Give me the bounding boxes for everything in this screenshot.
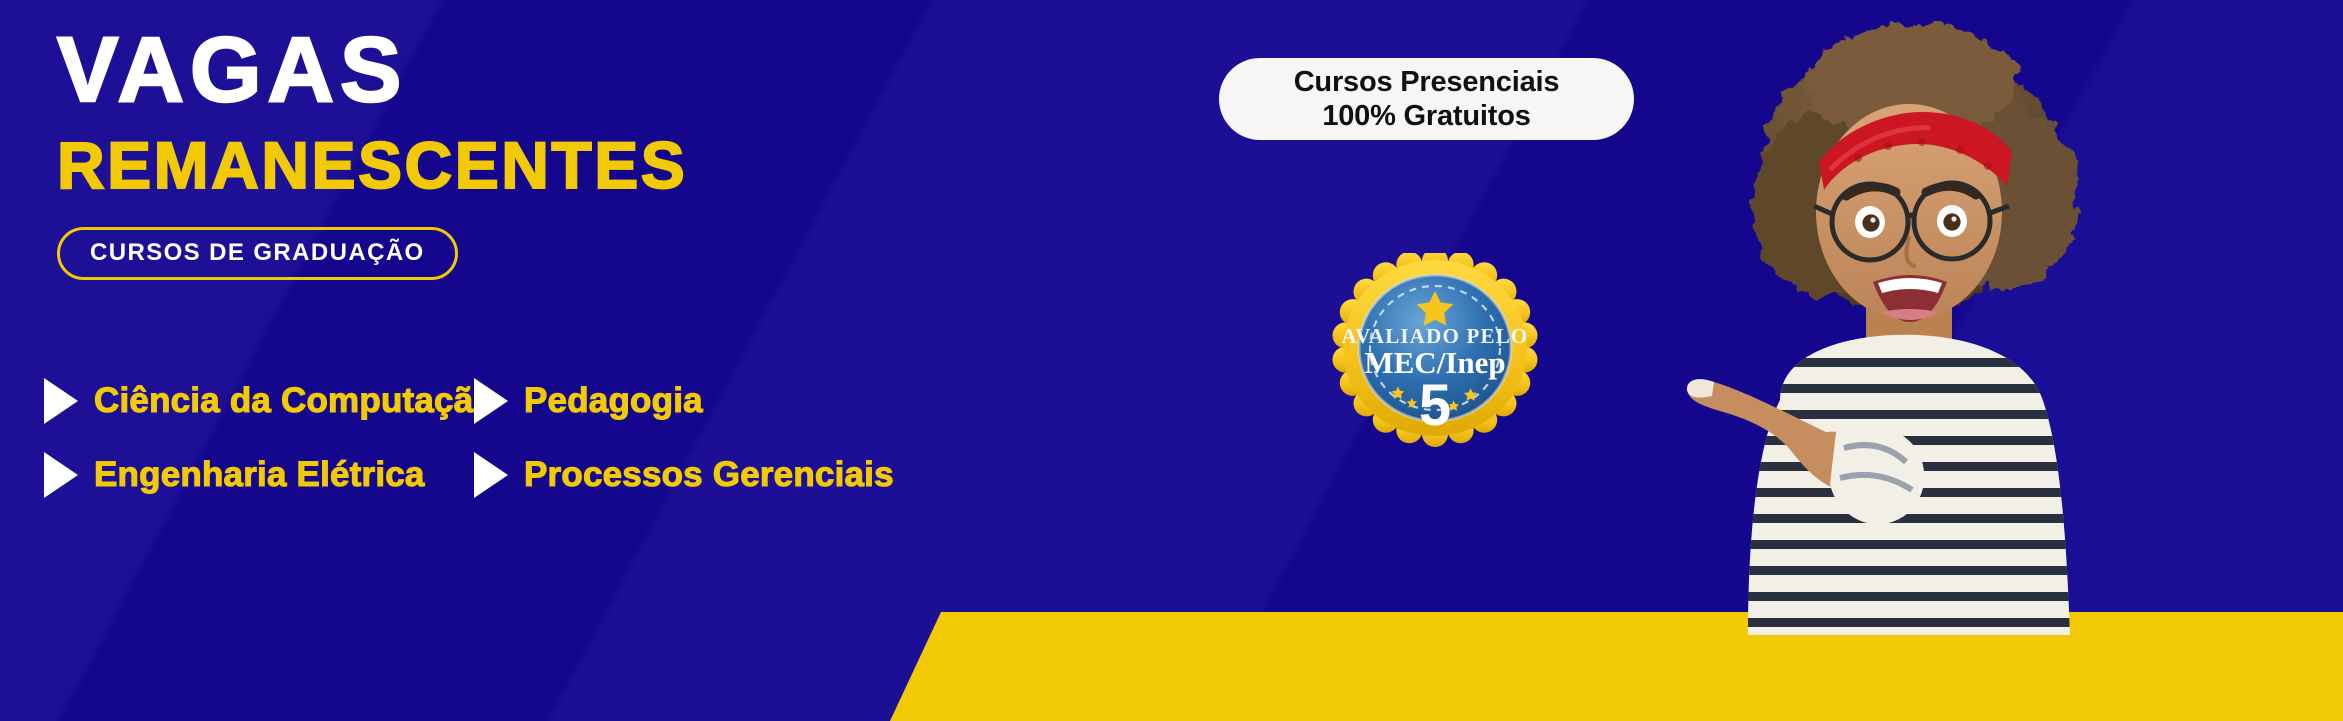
- free-courses-line-1: Cursos Presenciais: [1294, 65, 1560, 99]
- triangle-bullet-icon: [44, 452, 78, 498]
- graduation-courses-badge: CURSOS DE GRADUAÇÃO: [57, 227, 458, 280]
- course-label: Engenharia Elétrica: [94, 457, 425, 494]
- triangle-bullet-icon: [474, 452, 508, 498]
- free-courses-line-2: 100% Gratuitos: [1322, 99, 1530, 133]
- course-list: Ciência da Computação Pedagogia Engenhar…: [44, 378, 874, 498]
- course-item-engenharia-eletrica[interactable]: Engenharia Elétrica: [44, 452, 474, 498]
- course-item-ciencia-da-computacao[interactable]: Ciência da Computação: [44, 378, 474, 424]
- course-row: Ciência da Computação Pedagogia: [44, 378, 874, 424]
- eye-right-iris: [1943, 213, 1960, 230]
- triangle-bullet-icon: [474, 378, 508, 424]
- eye-left-iris: [1862, 214, 1879, 231]
- free-courses-badge: Cursos Presenciais 100% Gratuitos: [1219, 58, 1634, 140]
- course-row: Engenharia Elétrica Processos Gerenciais: [44, 452, 874, 498]
- headline-block: VAGAS REMANESCENTES CURSOS DE GRADUAÇÃO: [57, 24, 687, 280]
- course-item-processos-gerenciais[interactable]: Processos Gerenciais: [474, 452, 894, 498]
- student-photo: [1630, 0, 2170, 635]
- seal-score: 5: [1419, 373, 1451, 438]
- course-label: Processos Gerenciais: [524, 457, 894, 494]
- promo-banner: VAGAS REMANESCENTES CURSOS DE GRADUAÇÃO …: [0, 0, 2343, 721]
- mec-inep-seal: AVALIADO PELO MEC/Inep 5: [1311, 253, 1559, 453]
- page-title: VAGAS: [57, 24, 687, 116]
- course-label: Pedagogia: [524, 383, 703, 420]
- course-item-pedagogia[interactable]: Pedagogia: [474, 378, 874, 424]
- course-label: Ciência da Computação: [94, 383, 495, 420]
- triangle-bullet-icon: [44, 378, 78, 424]
- page-subtitle: REMANESCENTES: [57, 132, 687, 198]
